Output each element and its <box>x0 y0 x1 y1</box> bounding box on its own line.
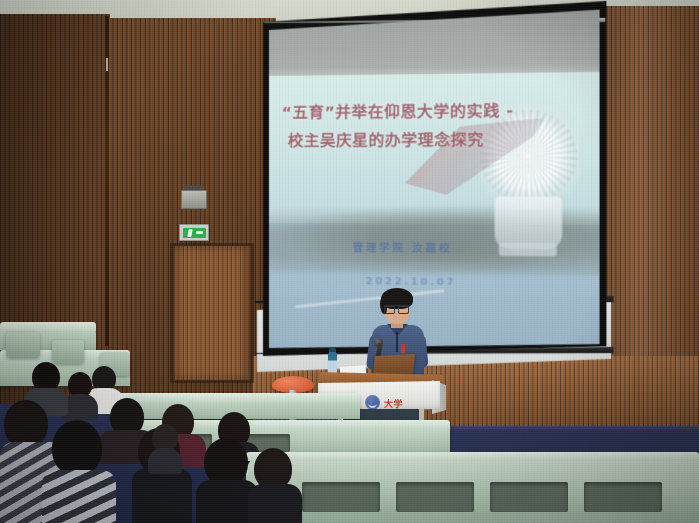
arrow-right-icon <box>196 231 203 234</box>
wall-speaker-unit <box>181 190 207 209</box>
audience-body <box>132 468 192 523</box>
projection-screen-surface: “五育”并举在仰恩大学的实践 - 校主吴庆星的办学理念探究 管理学院 汝嘉校 2… <box>269 8 600 355</box>
university-logo-icon <box>365 395 380 410</box>
bench-surface <box>0 322 96 331</box>
glasses-icon <box>384 305 409 312</box>
slide-title-line-2: 校主吴庆星的办学理念探究 <box>288 126 593 155</box>
bench-cubby <box>302 482 380 512</box>
wall-seam-light-glint <box>106 58 108 71</box>
emergency-exit-sign <box>179 224 209 241</box>
audience-body <box>42 470 116 523</box>
audience-head <box>204 438 248 486</box>
audience-member <box>248 448 302 523</box>
exit-sign-icon <box>183 228 206 238</box>
slide-title-line-1: “五育”并举在仰恩大学的实践 - <box>282 102 514 122</box>
bench-cubby <box>584 482 662 512</box>
bench-row-front <box>246 452 699 523</box>
lectern-laptop[interactable] <box>373 354 415 376</box>
audience-member <box>42 420 116 523</box>
bench-cubby <box>396 482 474 512</box>
exit-door[interactable] <box>174 246 248 380</box>
audience-member <box>148 424 182 472</box>
presenter-shirt-placket <box>396 332 398 352</box>
presentation-slide: “五育”并举在仰恩大学的实践 - 校主吴庆星的办学理念探究 管理学院 汝嘉校 2… <box>269 72 600 354</box>
bench-surface <box>246 452 699 461</box>
bench-cubby <box>490 482 568 512</box>
seat-back <box>6 332 40 358</box>
seat-back <box>52 340 84 364</box>
slide-subtitle: 管理学院 汝嘉校 <box>353 240 552 257</box>
running-person-icon <box>187 229 192 237</box>
water-bottle <box>328 352 337 374</box>
audience-head <box>52 420 102 476</box>
audience-body <box>148 448 182 474</box>
audience-body <box>248 484 302 523</box>
slide-title: “五育”并举在仰恩大学的实践 - 校主吴庆星的办学理念探究 <box>282 97 593 154</box>
presenter-pocket-badge <box>401 344 405 353</box>
lecture-hall-photo: “五育”并举在仰恩大学的实践 - 校主吴庆星的办学理念探究 管理学院 汝嘉校 2… <box>0 0 699 523</box>
